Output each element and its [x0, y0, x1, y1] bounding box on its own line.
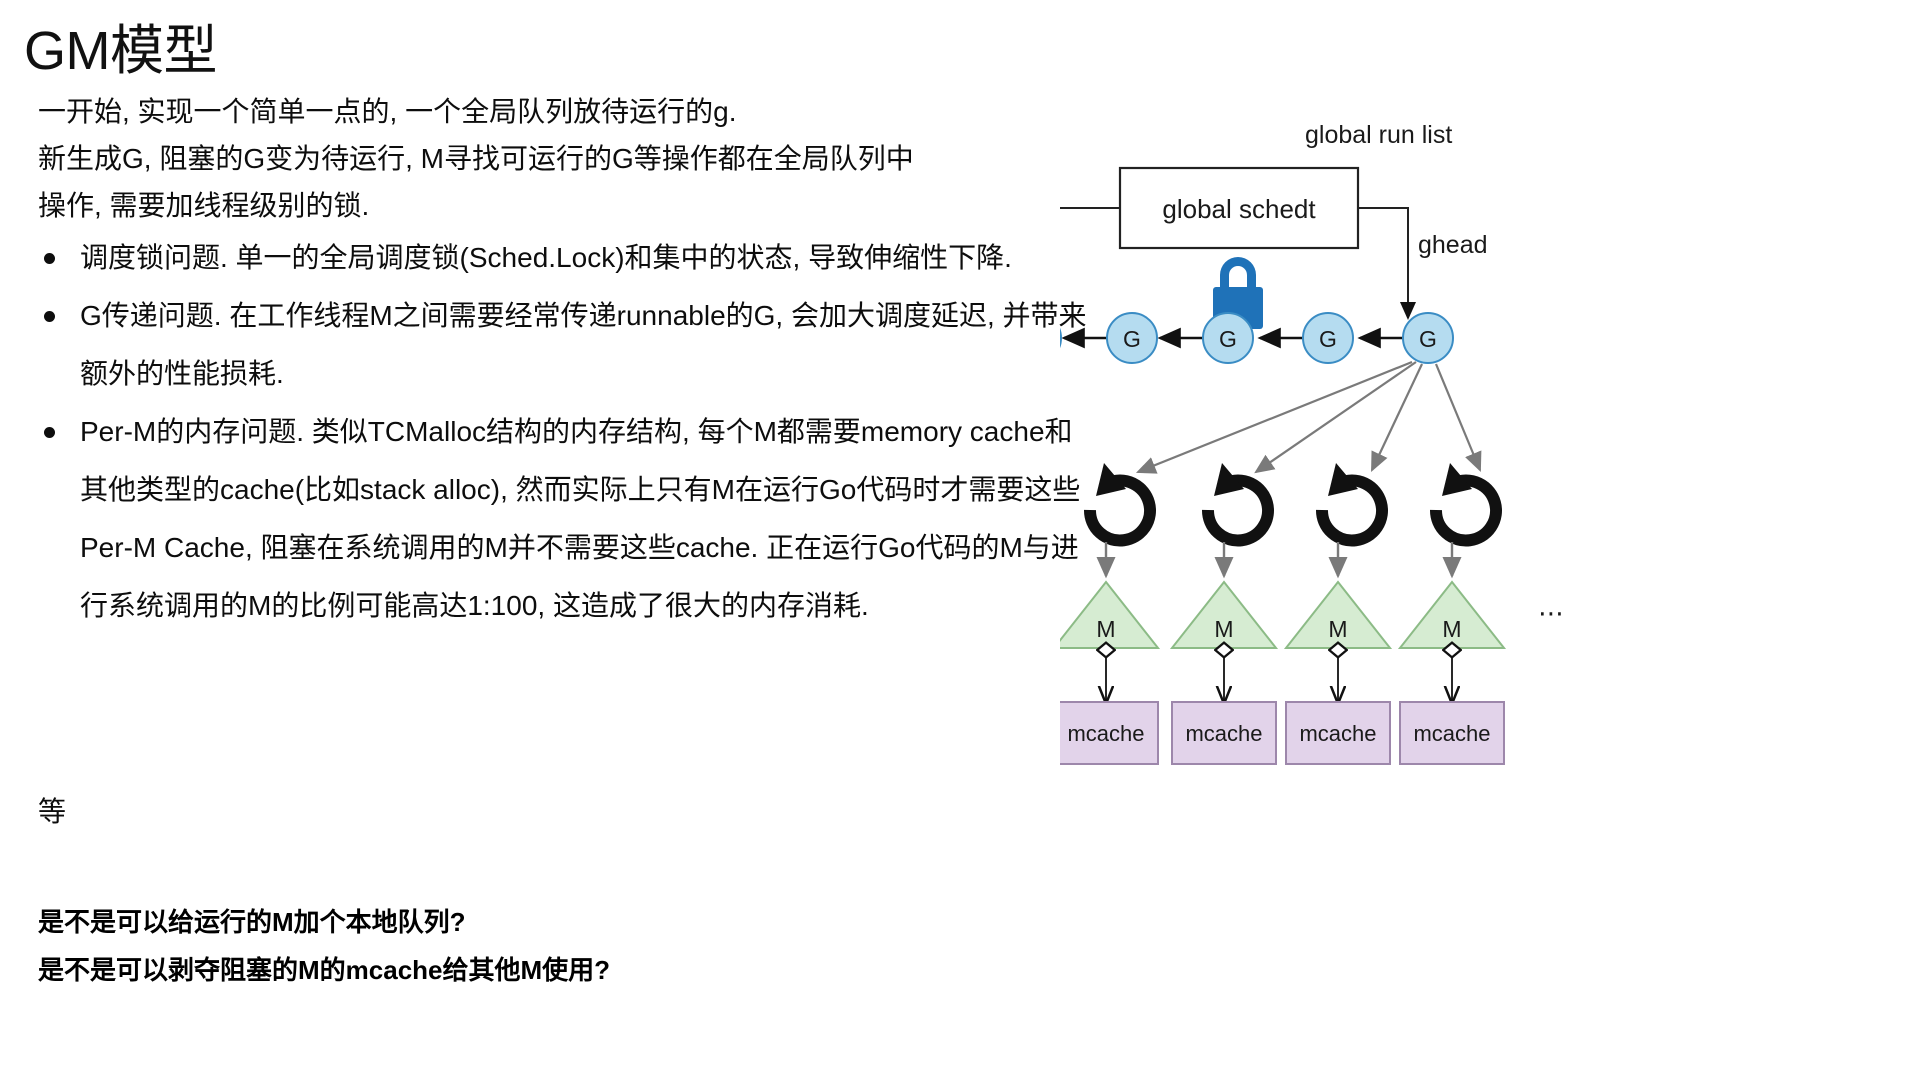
machine-to-mcache-arrows — [1106, 650, 1452, 702]
circular-arrow-icon — [1090, 463, 1150, 540]
list-item: G传递问题. 在工作线程M之间需要经常传递runnable的G, 会加大调度延迟… — [38, 287, 1090, 403]
page-title: GM模型 — [24, 6, 217, 85]
slide-page: GM模型 一开始, 实现一个简单一点的, 一个全局队列放待运行的g. 新生成G,… — [0, 0, 1920, 1080]
circular-arrow-icon — [1322, 463, 1382, 540]
list-item: 调度锁问题. 单一的全局调度锁(Sched.Lock)和集中的状态, 导致伸缩性… — [38, 229, 1090, 287]
machine-label: M — [1214, 616, 1233, 642]
ghead-label: ghead — [1418, 231, 1488, 259]
goroutine-label: G — [1419, 326, 1437, 352]
list-item-label: Per-M的内存问题. 类似TCMalloc结构的内存结构, 每个M都需要mem… — [80, 416, 1080, 621]
machine-node: M — [1286, 582, 1390, 648]
spinner-to-machine-arrows — [1106, 542, 1452, 576]
list-item-label: G传递问题. 在工作线程M之间需要经常传递runnable的G, 会加大调度延迟… — [80, 300, 1087, 389]
paragraph-2: 新生成G, 阻塞的G变为待运行, M寻找可运行的G等操作都在全局队列中 — [38, 135, 1088, 182]
bullet-dot-icon — [44, 253, 55, 264]
diagram-title-global-run-list: global run list — [1305, 121, 1452, 149]
list-item-label: 调度锁问题. 单一的全局调度锁(Sched.Lock)和集中的状态, 导致伸缩性… — [80, 242, 1012, 273]
machine-node: M — [1172, 582, 1276, 648]
circular-arrow-icon — [1436, 463, 1496, 540]
mcache-label: mcache — [1299, 721, 1376, 746]
mcache-label: mcache — [1185, 721, 1262, 746]
mcache-label: mcache — [1067, 721, 1144, 746]
goroutine-node: G — [1403, 313, 1453, 363]
mcache-node: mcache — [1400, 702, 1504, 764]
goroutine-label: G — [1319, 326, 1337, 352]
goroutine-node: G — [1303, 313, 1353, 363]
mcache-node: mcache — [1286, 702, 1390, 764]
machine-label: M — [1328, 616, 1347, 642]
ghead-connector — [1358, 208, 1408, 318]
circular-arrow-icon — [1208, 463, 1268, 540]
mcache-node: mcache — [1060, 702, 1158, 764]
bullet-dot-icon — [44, 311, 55, 322]
paragraph-1: 一开始, 实现一个简单一点的, 一个全局队列放待运行的g. — [38, 88, 1088, 135]
problem-bullet-list: 调度锁问题. 单一的全局调度锁(Sched.Lock)和集中的状态, 导致伸缩性… — [38, 229, 1088, 635]
goroutine-node: G — [1203, 313, 1253, 363]
question-block: 是不是可以给运行的M加个本地队列? 是不是可以剥夺阻塞的M的mcache给其他M… — [38, 898, 610, 994]
goroutine-node: G — [1107, 313, 1157, 363]
goroutine-label: G — [1123, 326, 1141, 352]
machine-label: M — [1096, 616, 1115, 642]
machine-node: M — [1060, 582, 1158, 648]
diagram-ellipsis: ⋯ — [1538, 598, 1564, 628]
goroutine-node: G — [1060, 313, 1061, 363]
goroutine-dispatch-arrows — [1138, 362, 1480, 472]
mcache-node: mcache — [1172, 702, 1276, 764]
gm-model-diagram: global run list global schedt gtail ghea… — [1060, 110, 1900, 900]
list-item: Per-M的内存问题. 类似TCMalloc结构的内存结构, 每个M都需要mem… — [38, 403, 1090, 635]
question-line-1: 是不是可以给运行的M加个本地队列? — [38, 898, 610, 946]
mcache-label: mcache — [1413, 721, 1490, 746]
bullet-dot-icon — [44, 427, 55, 438]
body-text-column: 一开始, 实现一个简单一点的, 一个全局队列放待运行的g. 新生成G, 阻塞的G… — [38, 88, 1088, 635]
global-schedt-label: global schedt — [1162, 194, 1316, 224]
gtail-connector — [1060, 208, 1120, 318]
machine-node: M — [1400, 582, 1504, 648]
question-line-2: 是不是可以剥夺阻塞的M的mcache给其他M使用? — [38, 946, 610, 994]
paragraph-3: 操作, 需要加线程级别的锁. — [38, 182, 1088, 229]
trailing-etc-text: 等 — [38, 790, 66, 830]
machine-label: M — [1442, 616, 1461, 642]
goroutine-label: G — [1219, 326, 1237, 352]
